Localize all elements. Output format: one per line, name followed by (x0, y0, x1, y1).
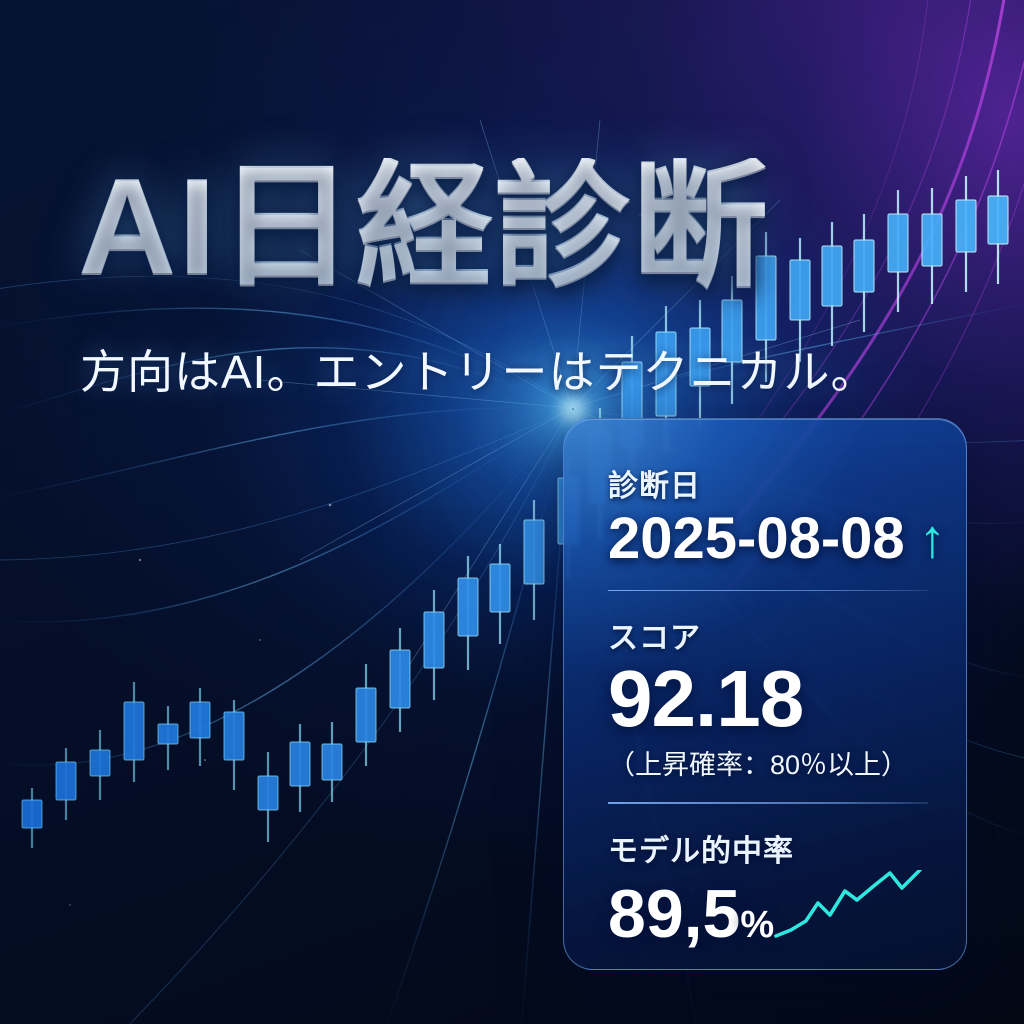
candle (988, 170, 1008, 284)
candle (290, 724, 310, 812)
accuracy-row: 89,5% (608, 870, 928, 948)
center-light-burst (572, 408, 574, 410)
poster-canvas: AI日経診断 方向はAI。エントリーはテクニカル。 診断日 2025-08-08… (0, 0, 1024, 1024)
candle (458, 556, 478, 670)
candle (224, 700, 244, 790)
card-divider-2 (608, 802, 928, 804)
accuracy-sparkline (774, 870, 928, 942)
score-value: 92.18 (608, 659, 928, 739)
candle (124, 682, 144, 782)
candle (322, 722, 342, 802)
diagnosis-date-row: 2025-08-08 ↑ (608, 509, 928, 570)
diagnosis-date-label: 診断日 (608, 461, 928, 505)
diagnosis-summary-card: 診断日 2025-08-08 ↑ スコア 92.18 （上昇確率：80％以上） … (563, 418, 967, 970)
accuracy-value: 89,5% (608, 880, 774, 948)
candle (258, 752, 278, 842)
page-title: AI日経診断 (78, 158, 878, 294)
candle (888, 190, 908, 312)
candle (390, 628, 410, 732)
candle (956, 176, 976, 292)
score-label: スコア (608, 613, 928, 657)
accuracy-number: 89,5 (608, 876, 740, 952)
candle (490, 544, 510, 644)
card-divider-1 (608, 590, 928, 592)
candle (22, 788, 42, 848)
accuracy-label: モデル的中率 (608, 826, 928, 870)
accuracy-percent-sign: % (740, 904, 774, 946)
arrow-up-icon: ↑ (919, 512, 946, 566)
score-note: （上昇確率：80％以上） (608, 743, 928, 782)
page-subtitle: 方向はAI。エントリーはテクニカル。 (80, 336, 900, 402)
candle (524, 500, 544, 620)
diagnosis-date-value: 2025-08-08 (608, 509, 905, 570)
candle (922, 188, 942, 304)
candle (158, 706, 178, 770)
candle (424, 590, 444, 700)
candle (356, 664, 376, 766)
candle (90, 730, 110, 800)
candle (190, 688, 210, 766)
candle (56, 748, 76, 820)
